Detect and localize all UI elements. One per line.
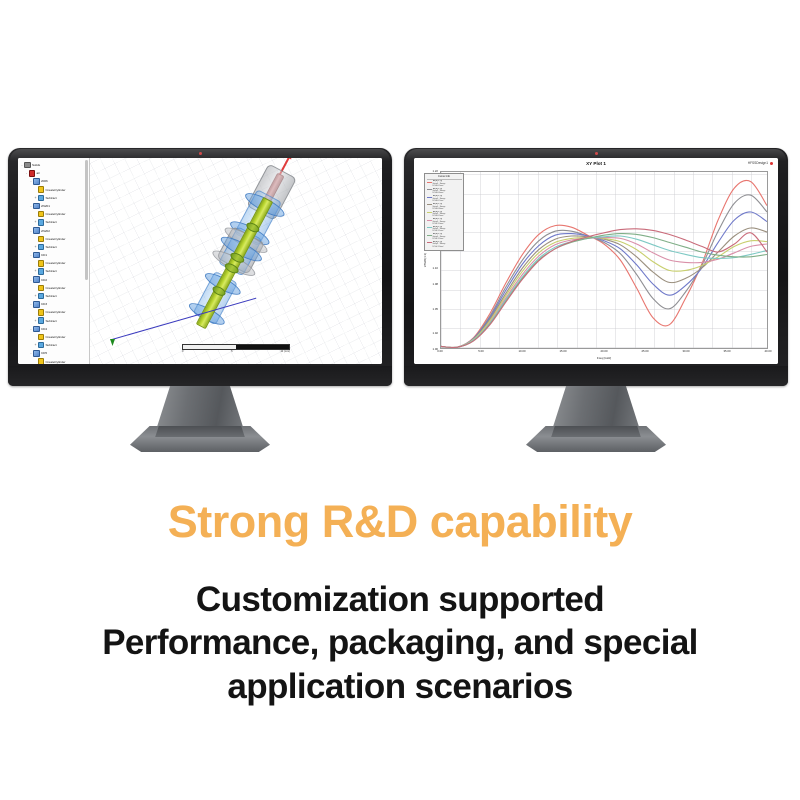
cylinder-icon <box>38 334 45 341</box>
legend-color-swatch <box>427 227 432 228</box>
tree-node-label: CreateCylinder <box>46 284 66 292</box>
legend-color-swatch <box>427 197 432 198</box>
object-icon <box>33 227 40 234</box>
scale-end: 10 (mm) <box>280 350 290 353</box>
plot-title: XY Plot 1 <box>586 161 606 166</box>
x-tick-label: 0.00 <box>437 349 442 353</box>
right-monitor-screen: XY Plot 1 HFSSDesign1 VSWR(1:1) 1.001.02… <box>414 158 778 364</box>
tree-node[interactable]: +Subtract <box>20 243 89 251</box>
legend-variable-label: DCH='1.2mm' <box>433 238 446 240</box>
tree-node-label: air <box>37 169 40 177</box>
subtract-icon <box>38 244 45 251</box>
legend-variable-label: DCH='0.5mm' <box>433 185 446 187</box>
coax-connector-model[interactable] <box>149 158 322 364</box>
tree-node-label: CD1 <box>41 251 47 259</box>
left-monitor-screen: -Solids-air-2006CreateCylinder+Subtract-… <box>18 158 382 364</box>
tree-node[interactable]: CreateCylinder <box>20 308 89 316</box>
legend-item[interactable]: dB(S(1,1))Setup1 : SweepDCH='1.2mm' <box>427 233 462 240</box>
tree-node-label: CreateCylinder <box>46 186 66 194</box>
legend-item[interactable]: dB(S(1,1))Setup1 : SweepDCH='0.6mm' <box>427 188 462 195</box>
tree-list: -Solids-air-2006CreateCylinder+Subtract-… <box>20 161 89 364</box>
tree-node[interactable]: CreateCylinder <box>20 358 89 365</box>
chart-series-line <box>441 234 767 348</box>
plot-canvas[interactable] <box>440 171 768 349</box>
tree-node[interactable]: CreateCylinder <box>20 210 89 218</box>
tree-expander-icon[interactable]: + <box>34 267 38 275</box>
tree-node-label: Subtract <box>46 292 57 300</box>
tree-node[interactable]: +Subtract <box>20 317 89 325</box>
tree-node[interactable]: -CD2 <box>20 276 89 284</box>
legend-color-swatch <box>427 242 432 243</box>
legend-text-block: dB(S(1,1))Setup1 : SweepDCH='0.8mm' <box>433 203 446 210</box>
legend-color-swatch <box>427 220 432 221</box>
tree-node[interactable]: -air <box>20 169 89 177</box>
tree-node-label: Solids <box>32 161 40 169</box>
left-monitor-bezel: -Solids-air-2006CreateCylinder+Subtract-… <box>8 148 392 386</box>
scale-bar: 0 5 10 (mm) <box>182 344 290 354</box>
tree-expander-icon[interactable]: + <box>34 292 38 300</box>
cylinder-icon <box>38 260 45 267</box>
object-icon <box>33 350 40 357</box>
legend-item[interactable]: dB(S(1,1))Setup1 : SweepDCH='0.9mm' <box>427 211 462 218</box>
tree-node[interactable]: CreateCylinder <box>20 259 89 267</box>
y-tick-label: 1.10 <box>433 266 438 270</box>
curve-legend[interactable]: Curve Info dB(S(1,1))Setup1 : SweepDCH='… <box>424 173 464 251</box>
tree-node[interactable]: CreateCylinder <box>20 235 89 243</box>
tree-node[interactable]: +Subtract <box>20 194 89 202</box>
x-axis: 0.005.0010.0015.0020.0025.0030.0035.0040… <box>440 349 768 360</box>
tree-node[interactable]: +Subtract <box>20 292 89 300</box>
right-monitor-chin <box>404 366 788 386</box>
object-icon <box>33 252 40 259</box>
legend-text-block: dB(S(1,1))Setup1 : SweepDCH='0.9mm' <box>433 211 446 218</box>
legend-item[interactable]: dB(S(1,1))Setup1 : SweepDCH='0.5mm' <box>427 180 462 187</box>
tree-node-label: CD3 <box>41 300 47 308</box>
tree-expander-icon[interactable]: - <box>25 169 29 177</box>
legend-rows: dB(S(1,1))Setup1 : SweepDCH='0.5mm'dB(S(… <box>427 180 462 247</box>
right-monitor-stand-neck <box>552 386 640 430</box>
legend-text-block: dB(S(1,1))Setup1 : SweepDCH='0.5mm' <box>433 180 446 187</box>
cad-application: -Solids-air-2006CreateCylinder+Subtract-… <box>18 158 382 364</box>
left-monitor-chin <box>8 366 392 386</box>
subtract-icon <box>38 293 45 300</box>
tree-node-label: Subtract <box>46 341 57 349</box>
tree-node[interactable]: -CD1 <box>20 251 89 259</box>
tree-node[interactable]: CreateCylinder <box>20 284 89 292</box>
legend-text-block: dB(S(1,1))Setup1 : SweepDCH='1.2mm' <box>433 233 446 240</box>
left-monitor-stand-base <box>130 426 270 452</box>
tree-node[interactable]: CreateCylinder <box>20 186 89 194</box>
left-monitor-stand-neck <box>156 386 244 430</box>
legend-variable-label: DCH='0.7mm' <box>433 200 446 202</box>
x-tick-label: 15.00 <box>560 349 567 353</box>
tree-node[interactable]: CreateCylinder <box>20 333 89 341</box>
tree-node[interactable]: -CD5 <box>20 349 89 357</box>
x-tick-label: 10.00 <box>519 349 526 353</box>
y-axis-indicator-icon <box>110 339 115 346</box>
cylinder-icon <box>38 186 45 193</box>
tree-node[interactable]: -CD3 <box>20 300 89 308</box>
legend-text-block: dB(S(1,1))Setup1 : SweepDCH='0.7mm' <box>433 195 446 202</box>
legend-text-block: dB(S(1,1))Setup1 : SweepDCH='1.1mm' <box>433 226 446 233</box>
tree-node-label: CreateCylinder <box>46 210 66 218</box>
object-icon <box>33 301 40 308</box>
chart-series-line <box>441 228 767 348</box>
tree-expander-icon[interactable]: + <box>34 317 38 325</box>
legend-variable-label: DCH='1.3mm' <box>433 246 446 248</box>
tree-scrollbar[interactable] <box>85 160 88 280</box>
webcam-indicator-icon <box>199 152 202 155</box>
x-tick-label: 35.00 <box>724 349 731 353</box>
right-monitor-stand-base <box>526 426 666 452</box>
legend-variable-label: DCH='0.9mm' <box>433 215 446 217</box>
legend-item[interactable]: dB(S(1,1))Setup1 : SweepDCH='1.1mm' <box>427 226 462 233</box>
legend-item[interactable]: dB(S(1,1))Setup1 : SweepDCH='0.8mm' <box>427 203 462 210</box>
scale-bar-track <box>182 344 290 350</box>
legend-color-swatch <box>427 182 432 183</box>
plot-header: XY Plot 1 HFSSDesign1 <box>414 158 778 168</box>
y-tick-label: 1.08 <box>433 282 438 286</box>
subtract-icon <box>38 195 45 202</box>
cylinder-icon <box>38 211 45 218</box>
tree-node-label: 2N201 <box>41 202 50 210</box>
3d-viewport[interactable]: 0 5 10 (mm) <box>90 158 382 364</box>
tree-node[interactable]: -2006 <box>20 177 89 185</box>
subheadline: Customization supported Performance, pac… <box>0 578 800 708</box>
tree-node[interactable]: -Solids <box>20 161 89 169</box>
subtract-icon <box>38 342 45 349</box>
tree-expander-icon[interactable]: + <box>34 243 38 251</box>
legend-color-swatch <box>427 189 432 190</box>
cylinder-icon <box>38 236 45 243</box>
tree-node[interactable]: +Subtract <box>20 267 89 275</box>
object-icon <box>33 203 40 210</box>
curve-layer <box>441 172 767 348</box>
x-tick-label: 25.00 <box>642 349 649 353</box>
right-monitor: XY Plot 1 HFSSDesign1 VSWR(1:1) 1.001.02… <box>404 148 788 386</box>
scale-bar-ticks: 0 5 10 (mm) <box>182 350 290 353</box>
solid-icon <box>24 162 31 169</box>
tree-node-label: 2006 <box>41 177 48 185</box>
tree-node[interactable]: -2N202 <box>20 227 89 235</box>
scale-bar-dark-segment <box>236 345 289 349</box>
legend-item[interactable]: dB(S(1,1))Setup1 : SweepDCH='0.7mm' <box>427 195 462 202</box>
subheadline-line-3: application scenarios <box>0 665 800 708</box>
scale-start: 0 <box>182 350 183 353</box>
cylinder-icon <box>38 309 45 316</box>
tree-node[interactable]: +Subtract <box>20 218 89 226</box>
tree-node-label: CD2 <box>41 276 47 284</box>
object-icon <box>33 276 40 283</box>
legend-text-block: dB(S(1,1))Setup1 : SweepDCH='1.0mm' <box>433 218 446 225</box>
subtract-icon <box>38 317 45 324</box>
scale-middle: 5 <box>231 350 232 353</box>
model-tree-panel[interactable]: -Solids-air-2006CreateCylinder+Subtract-… <box>18 158 90 364</box>
legend-text-block: dB(S(1,1))Setup1 : SweepDCH='0.6mm' <box>433 188 446 195</box>
tree-node-label: CreateCylinder <box>46 308 66 316</box>
tree-node[interactable]: -CD4 <box>20 325 89 333</box>
plot-body: VSWR(1:1) 1.001.021.051.081.101.151.181.… <box>418 169 772 364</box>
y-tick-label: 1.05 <box>433 307 438 311</box>
y-axis-label: VSWR(1:1) <box>423 253 427 267</box>
slide-root: -Solids-air-2006CreateCylinder+Subtract-… <box>0 0 800 800</box>
legend-color-swatch <box>427 204 432 205</box>
subheadline-line-1: Customization supported <box>0 578 800 621</box>
cylinder-icon <box>38 358 45 364</box>
x-tick-label: 20.00 <box>601 349 608 353</box>
object-icon <box>33 326 40 333</box>
tree-node-label: 2N202 <box>41 227 50 235</box>
design-status-dot-icon <box>770 162 773 165</box>
right-monitor-bezel: XY Plot 1 HFSSDesign1 VSWR(1:1) 1.001.02… <box>404 148 788 386</box>
center-conductor <box>195 197 272 329</box>
chart-series-line <box>441 229 767 348</box>
chart-series-line <box>441 238 767 348</box>
legend-item[interactable]: dB(S(1,1))Setup1 : SweepDCH='1.3mm' <box>427 241 462 248</box>
tree-node[interactable]: +Subtract <box>20 341 89 349</box>
scale-bar-light-segment <box>183 345 236 349</box>
subtract-icon <box>38 219 45 226</box>
chart-series-line <box>441 238 767 348</box>
tree-node-label: CreateCylinder <box>46 235 66 243</box>
x-tick-label: 5.00 <box>478 349 483 353</box>
left-monitor: -Solids-air-2006CreateCylinder+Subtract-… <box>8 148 392 386</box>
tree-node-label: CreateCylinder <box>46 333 66 341</box>
legend-item[interactable]: dB(S(1,1))Setup1 : SweepDCH='1.0mm' <box>427 218 462 225</box>
tree-node-label: Subtract <box>46 194 57 202</box>
tree-expander-icon[interactable]: + <box>34 341 38 349</box>
subtract-icon <box>38 268 45 275</box>
legend-variable-label: DCH='1.1mm' <box>433 230 446 232</box>
plot-application: XY Plot 1 HFSSDesign1 VSWR(1:1) 1.001.02… <box>414 158 778 364</box>
subheadline-line-2: Performance, packaging, and special <box>0 621 800 664</box>
tree-node-label: Subtract <box>46 267 57 275</box>
material-red-icon <box>29 170 36 177</box>
tree-node-label: CreateCylinder <box>46 358 66 365</box>
tree-expander-icon[interactable]: + <box>34 194 38 202</box>
y-tick-label: 1.02 <box>433 331 438 335</box>
design-name-label: HFSSDesign1 <box>748 161 768 165</box>
legend-variable-label: DCH='0.8mm' <box>433 208 446 210</box>
tree-node-label: Subtract <box>46 243 57 251</box>
tree-node-label: Subtract <box>46 218 57 226</box>
tree-node-label: CD4 <box>41 325 47 333</box>
tree-node[interactable]: -2N201 <box>20 202 89 210</box>
webcam-indicator-icon <box>595 152 598 155</box>
headline: Strong R&D capability <box>0 496 800 548</box>
cylinder-icon <box>38 285 45 292</box>
x-tick-label: 40.00 <box>765 349 772 353</box>
tree-node-label: CD5 <box>41 349 47 357</box>
tree-node-label: Subtract <box>46 317 57 325</box>
x-tick-label: 30.00 <box>683 349 690 353</box>
legend-variable-label: DCH='0.6mm' <box>433 192 446 194</box>
legend-color-swatch <box>427 212 432 213</box>
legend-title: Curve Info <box>427 175 462 180</box>
tree-node-label: CreateCylinder <box>46 259 66 267</box>
x-axis-label: Freq [GHz] <box>597 356 611 360</box>
object-icon <box>33 178 40 185</box>
legend-text-block: dB(S(1,1))Setup1 : SweepDCH='1.3mm' <box>433 241 446 248</box>
legend-color-swatch <box>427 235 432 236</box>
tree-expander-icon[interactable]: + <box>34 218 38 226</box>
legend-variable-label: DCH='1.0mm' <box>433 223 446 225</box>
